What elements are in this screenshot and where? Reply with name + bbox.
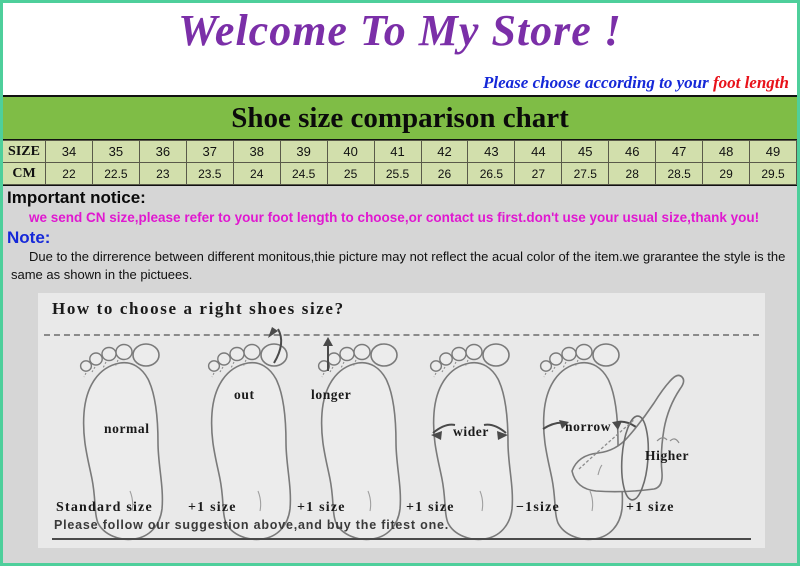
table-row-size: SIZE 34 35 36 37 38 39 40 41 42 43 44 45… [3,141,797,163]
size-cell: 49 [750,141,797,163]
size-cell: 45 [562,141,609,163]
foot-label-wider: wider [453,424,489,440]
foot-caption-wider-plus1: +1 size [406,500,455,516]
row-label-size: SIZE [3,141,46,163]
cm-cell: 23 [139,163,186,185]
foot-caption-higher-plus1: +1 size [626,500,675,516]
size-chart-table: SIZE 34 35 36 37 38 39 40 41 42 43 44 45… [3,140,797,185]
size-cell: 38 [233,141,280,163]
cm-cell: 26.5 [468,163,515,185]
size-cell: 46 [609,141,656,163]
foot-size-diagram: How to choose a right shoes size? [38,293,765,548]
foot-caption-out-plus1: +1 size [188,500,237,516]
size-cell: 40 [327,141,374,163]
cm-cell: 24 [233,163,280,185]
size-cell: 48 [703,141,750,163]
row-label-cm: CM [3,163,46,185]
size-cell: 37 [186,141,233,163]
cm-cell: 24.5 [280,163,327,185]
foot-label-out: out [234,387,255,403]
foot-label-higher: Higher [645,448,689,464]
foot-label-longer: longer [311,387,351,403]
foot-caption-longer-plus1: +1 size [297,500,346,516]
foot-caption-standard-size: Standard size [56,500,153,516]
foot-label-norrow: norrow [565,419,611,435]
size-chart-section: Shoe size comparison chart SIZE 34 35 36… [3,95,797,186]
table-row-cm: CM 22 22.5 23 23.5 24 24.5 25 25.5 26 26… [3,163,797,185]
size-cell: 39 [280,141,327,163]
note-text: Due to the dirrerence between different … [7,248,791,284]
foot-caption-norrow-minus1: −1size [516,500,560,516]
size-cell: 42 [421,141,468,163]
note-line-2: same as shown in the pictuees. [11,267,192,282]
subtitle-blue-text: Please choose according to your [483,73,713,92]
size-cell: 35 [92,141,139,163]
size-cell: 34 [46,141,93,163]
notice-section: Important notice: we send CN size,please… [3,186,797,287]
cm-cell: 27 [515,163,562,185]
cm-cell: 28 [609,163,656,185]
diagram-footer-text: Please follow our suggestion above,and b… [54,518,449,532]
cm-cell: 27.5 [562,163,609,185]
size-chart-title: Shoe size comparison chart [3,97,797,140]
cm-cell: 22.5 [92,163,139,185]
store-size-guide-page: Welcome To My Store ! Please choose acco… [0,0,800,566]
cm-cell: 29.5 [750,163,797,185]
cm-cell: 22 [46,163,93,185]
important-notice-text: we send CN size,please refer to your foo… [7,208,791,227]
subtitle-red-text: foot length [713,73,789,92]
banner-subtitle: Please choose according to your foot len… [483,73,789,93]
page-title: Welcome To My Store ! [3,5,797,56]
important-notice-heading: Important notice: [7,187,791,208]
cm-cell: 28.5 [656,163,703,185]
cm-cell: 25.5 [374,163,421,185]
foot-label-normal: normal [104,421,150,437]
size-cell: 47 [656,141,703,163]
welcome-banner: Welcome To My Store ! Please choose acco… [3,3,797,95]
cm-cell: 29 [703,163,750,185]
cm-cell: 26 [421,163,468,185]
size-cell: 43 [468,141,515,163]
diagram-footer-rule [52,538,751,540]
size-cell: 36 [139,141,186,163]
cm-cell: 25 [327,163,374,185]
cm-cell: 23.5 [186,163,233,185]
size-cell: 41 [374,141,421,163]
size-cell: 44 [515,141,562,163]
note-heading: Note: [7,227,791,248]
note-line-1: Due to the dirrerence between different … [11,249,785,264]
